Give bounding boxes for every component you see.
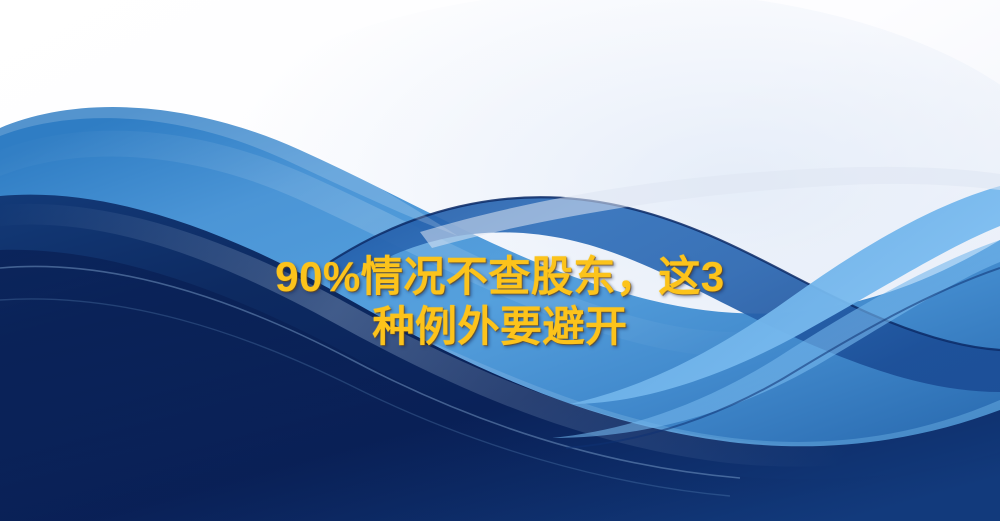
banner-image: 90%情况不查股东，这3 种例外要避开 [0,0,1000,521]
abstract-blue-wave-background [0,0,1000,521]
